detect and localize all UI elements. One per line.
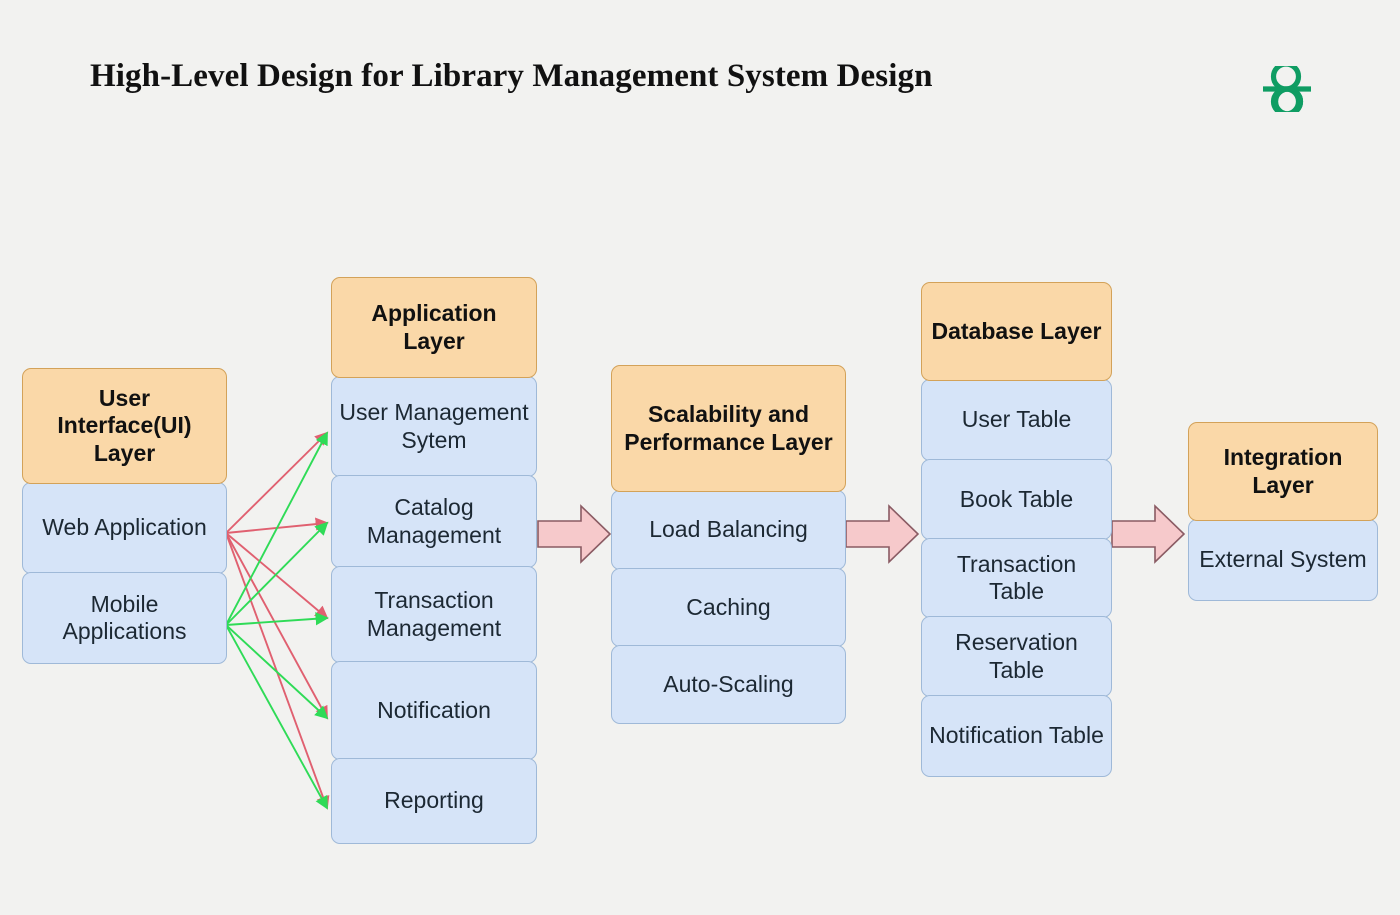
page-title: High-Level Design for Library Management… xyxy=(90,58,933,95)
node-mobile-applications[interactable]: Mobile Applications xyxy=(22,572,227,664)
block-arrow-scalability-to-database xyxy=(846,506,918,562)
layer-header-database-layer[interactable]: Database Layer xyxy=(921,282,1112,381)
node-transaction-management[interactable]: Transaction Management xyxy=(331,566,537,663)
node-notification[interactable]: Notification xyxy=(331,661,537,760)
node-caching[interactable]: Caching xyxy=(611,568,846,647)
block-arrow-app-to-scalability xyxy=(538,506,610,562)
diagram-canvas: High-Level Design for Library Management… xyxy=(0,0,1400,915)
node-auto-scaling[interactable]: Auto-Scaling xyxy=(611,645,846,724)
column-integration-layer: Integration Layer External System xyxy=(1188,422,1378,601)
layer-header-ui-layer[interactable]: User Interface(UI) Layer xyxy=(22,368,227,484)
column-application-layer: Application Layer User Management Sytem … xyxy=(331,277,537,844)
layer-header-integration-layer[interactable]: Integration Layer xyxy=(1188,422,1378,521)
column-scalability-layer: Scalability and Performance Layer Load B… xyxy=(611,365,846,724)
node-reporting[interactable]: Reporting xyxy=(331,758,537,844)
node-reservation-table[interactable]: Reservation Table xyxy=(921,616,1112,697)
node-load-balancing[interactable]: Load Balancing xyxy=(611,490,846,570)
node-external-system[interactable]: External System xyxy=(1188,519,1378,601)
node-user-table[interactable]: User Table xyxy=(921,379,1112,461)
node-notification-table[interactable]: Notification Table xyxy=(921,695,1112,777)
node-user-management-sytem[interactable]: User Management Sytem xyxy=(331,376,537,477)
block-arrow-database-to-integration xyxy=(1112,506,1184,562)
node-catalog-management[interactable]: Catalog Management xyxy=(331,475,537,568)
node-transaction-table[interactable]: Transaction Table xyxy=(921,538,1112,618)
layer-header-scalability-layer[interactable]: Scalability and Performance Layer xyxy=(611,365,846,492)
node-book-table[interactable]: Book Table xyxy=(921,459,1112,540)
column-database-layer: Database Layer User Table Book Table Tra… xyxy=(921,282,1112,777)
geeksforgeeks-logo-icon xyxy=(1256,66,1318,112)
node-web-application[interactable]: Web Application xyxy=(22,482,227,574)
layer-header-application-layer[interactable]: Application Layer xyxy=(331,277,537,378)
column-ui-layer: User Interface(UI) Layer Web Application… xyxy=(22,368,227,664)
